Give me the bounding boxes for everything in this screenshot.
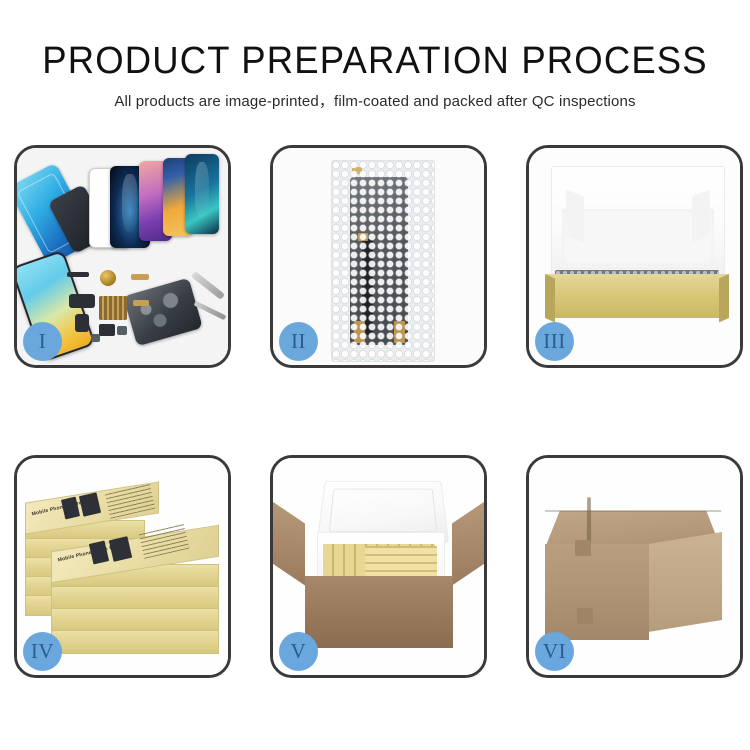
page-title: PRODUCT PREPARATION PROCESS (15, 0, 735, 80)
foam-flap-right (692, 189, 710, 242)
carton-top-seam (587, 497, 591, 541)
carton-body-icon (305, 576, 453, 648)
stacked-box (51, 630, 219, 654)
carton-top-fold-line (545, 510, 722, 511)
carton-tape-lower (577, 608, 593, 624)
step-badge-ii: II (279, 322, 318, 361)
page-header: PRODUCT PREPARATION PROCESS All products… (0, 0, 750, 109)
step-badge-v: V (279, 632, 318, 671)
white-foam-lid-icon (551, 166, 725, 280)
step-card-i: I (14, 145, 231, 368)
camera-module-icon (75, 314, 89, 332)
step-card-ii: II (270, 145, 487, 368)
flex-cable-icon (67, 272, 89, 277)
step-badge-iii: III (535, 322, 574, 361)
flex-connector-icon (69, 294, 95, 308)
gold-contact-strip-icon (131, 274, 149, 280)
steps-grid: I II (14, 145, 744, 678)
yellow-box-base-icon (545, 274, 729, 318)
step-badge-i: I (23, 322, 62, 361)
product-preparation-infographic: PRODUCT PREPARATION PROCESS All products… (0, 0, 750, 750)
step-card-iii: III (526, 145, 743, 368)
chip-array-icon (99, 296, 127, 320)
bubble-wrap-bag-icon (331, 160, 435, 362)
phone-teal-screen-icon (185, 154, 219, 234)
step-card-v: V (270, 455, 487, 678)
button-part-icon (91, 334, 100, 342)
step-badge-vi: VI (535, 632, 574, 671)
carton-tape-upper (575, 540, 591, 556)
box-stack-icon: Mobile Phone Spare Parts Mobile Phone Sp… (25, 480, 223, 660)
carton-side-face (648, 532, 722, 632)
bubble-texture (332, 161, 434, 361)
vibration-motor-icon (100, 270, 116, 286)
step-card-iv: Mobile Phone Spare Parts Mobile Phone Sp… (14, 455, 231, 678)
stacked-box (51, 608, 219, 632)
stacked-box (51, 586, 219, 610)
foam-flap-left (566, 189, 584, 242)
page-subtitle: All products are image-printed，film-coat… (0, 80, 750, 109)
gold-flex-strip-icon (133, 300, 149, 306)
step-badge-iv: IV (23, 632, 62, 671)
step-card-vi: VI (526, 455, 743, 678)
speaker-module-icon (99, 324, 115, 336)
carton-front-face (545, 544, 649, 640)
small-screw-part-icon (117, 326, 127, 335)
